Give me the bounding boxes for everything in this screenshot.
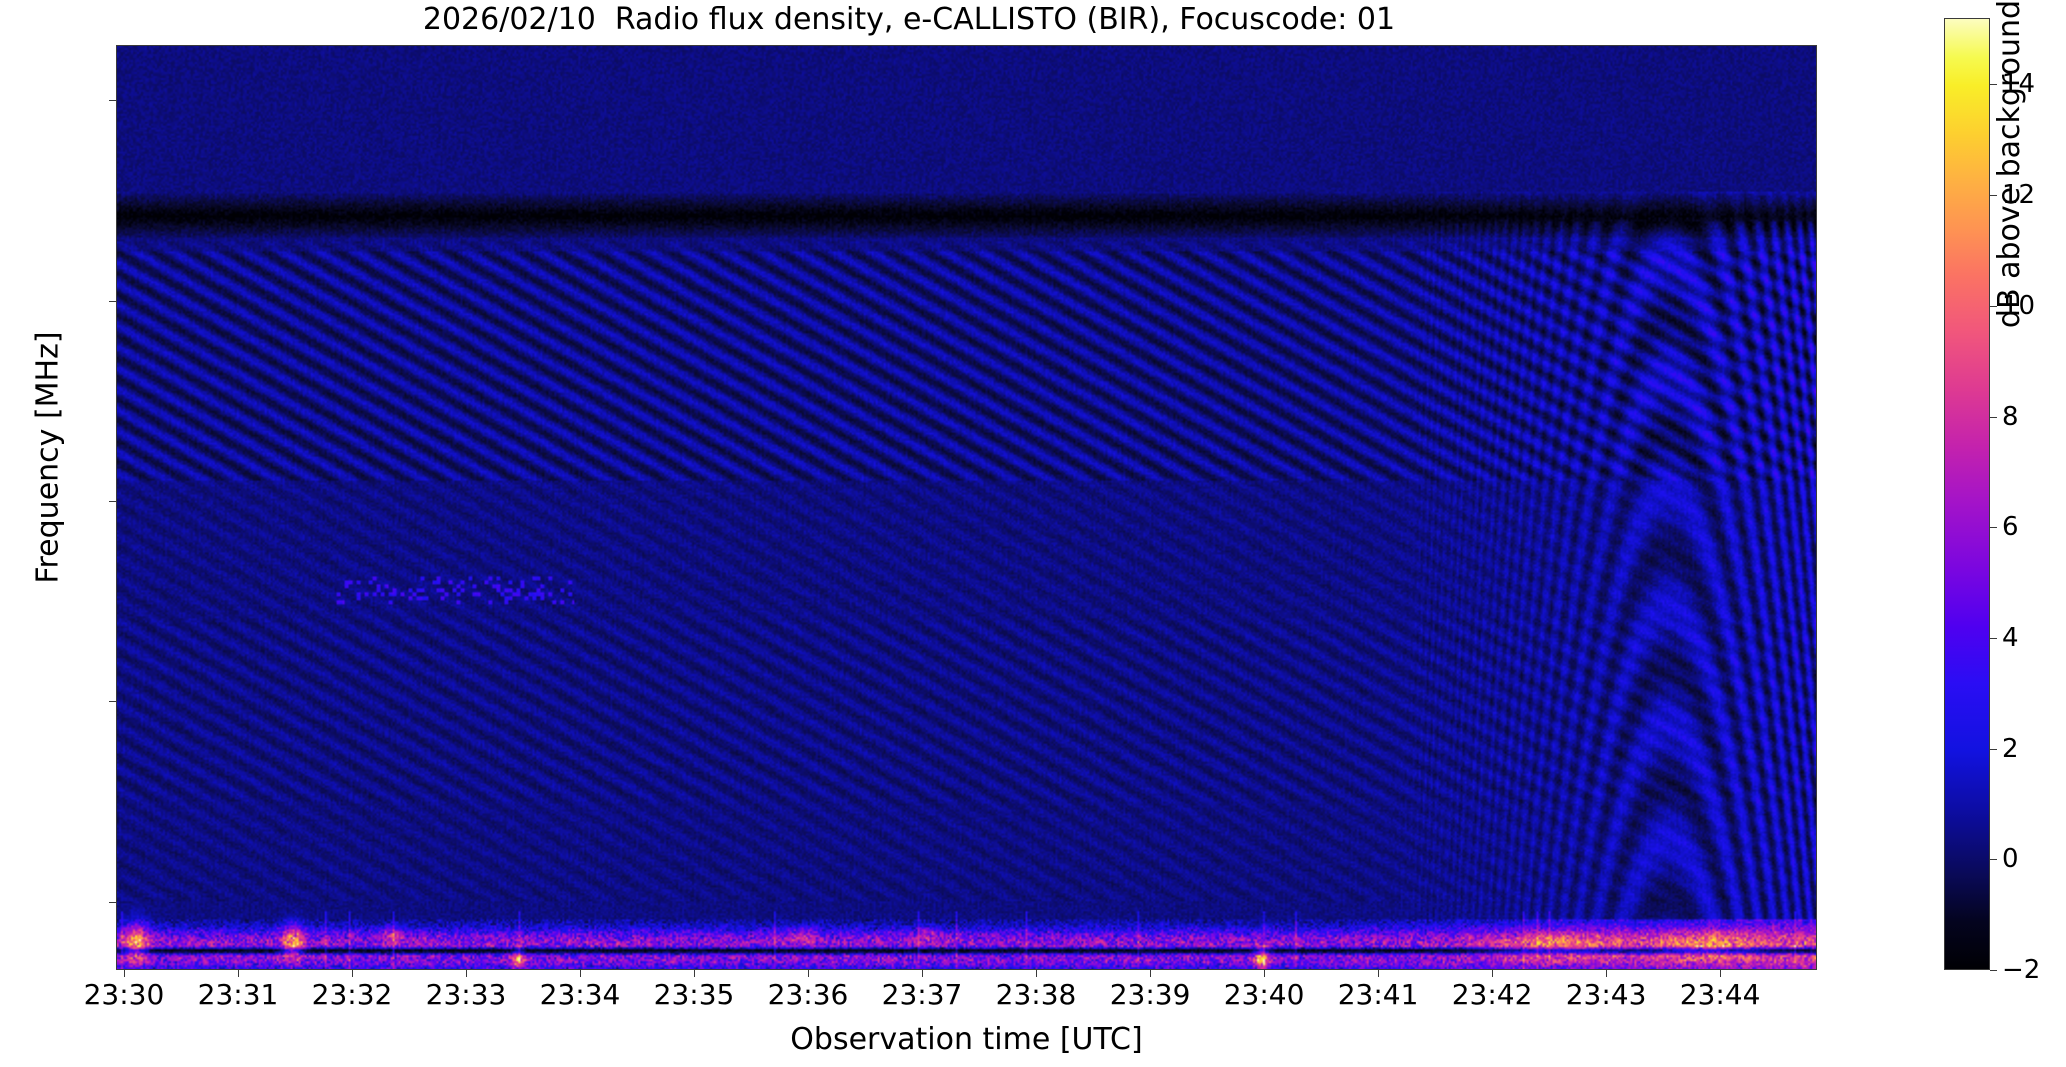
spectrogram-image: [117, 46, 1816, 969]
x-tick-mark: [1150, 970, 1151, 977]
spectrogram-figure: 2026/02/10 Radio flux density, e-CALLIST…: [0, 0, 2066, 1067]
y-tick-mark: [109, 501, 116, 502]
x-tick-mark: [580, 970, 581, 977]
y-axis-label: Frequency [MHz]: [31, 178, 66, 738]
x-tick-mark: [1264, 970, 1265, 977]
colorbar-tick-mark: [1990, 749, 1997, 750]
y-tick-mark: [109, 100, 116, 101]
colorbar-tick-label: 4: [2002, 623, 2019, 653]
x-tick-mark: [238, 970, 239, 977]
x-tick-mark: [1606, 970, 1607, 977]
colorbar-tick-label: 2: [2002, 734, 2019, 764]
colorbar-tick-mark: [1990, 638, 1997, 639]
x-tick-mark: [922, 970, 923, 977]
colorbar-tick-mark: [1990, 970, 1997, 971]
x-tick-mark: [1720, 970, 1721, 977]
x-axis-label: Observation time [UTC]: [116, 1022, 1817, 1057]
colorbar-gradient: [1944, 18, 1990, 970]
x-tick-mark: [124, 970, 125, 977]
x-tick-mark: [352, 970, 353, 977]
x-tick-mark: [1378, 970, 1379, 977]
x-tick-mark: [1036, 970, 1037, 977]
x-tick-mark: [466, 970, 467, 977]
x-tick-mark: [694, 970, 695, 977]
colorbar-tick-label: 0: [2002, 844, 2019, 874]
colorbar-tick-mark: [1990, 859, 1997, 860]
colorbar-tick-label: 6: [2002, 512, 2019, 542]
colorbar-tick-label: −2: [2002, 955, 2040, 985]
y-tick-mark: [109, 301, 116, 302]
colorbar-tick-mark: [1990, 527, 1997, 528]
y-tick-mark: [109, 701, 116, 702]
colorbar[interactable]: 14121086420−2: [1944, 18, 1990, 970]
x-tick-label: 23:44: [1640, 978, 1800, 1011]
colorbar-label: dB above background: [1992, 0, 2027, 494]
y-tick-mark: [109, 902, 116, 903]
figure-title: 2026/02/10 Radio flux density, e-CALLIST…: [0, 2, 1818, 37]
x-tick-mark: [1492, 970, 1493, 977]
x-tick-mark: [808, 970, 809, 977]
spectrogram-plot-area[interactable]: [116, 45, 1817, 970]
